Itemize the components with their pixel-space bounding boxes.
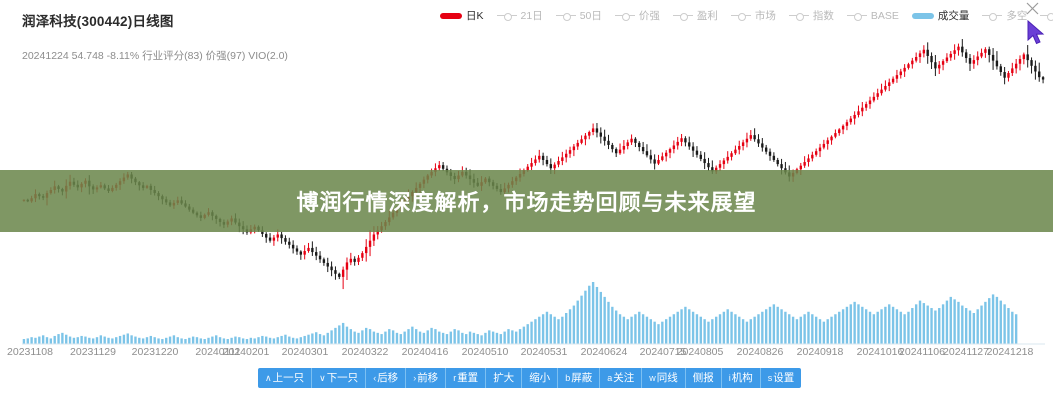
candle-body [673,145,675,149]
volume-bar [853,302,855,344]
candle-body [296,248,298,251]
volume-bar [857,304,859,344]
volume-bar [207,338,209,344]
x-axis-tick-label: 20240201 [223,346,270,358]
toolbar-button-10[interactable]: 侧报 [686,368,722,388]
close-icon[interactable] [1026,2,1039,15]
x-axis-tick-label: 20231220 [132,346,179,358]
volume-bar [492,332,494,344]
volume-bar [807,312,809,344]
toolbar-button-key: ∨ [319,374,326,383]
legend-item-label: 多空 [1006,8,1027,23]
legend-swatch-icon [440,13,462,19]
volume-bar [830,317,832,344]
candle-body [584,136,586,140]
volume-bar [892,307,894,344]
toolbar-button-key: i [729,374,731,383]
candle-body [1038,71,1040,77]
volume-bar [42,335,44,344]
candle-body [992,55,994,61]
candle-body [846,122,848,126]
candle-body [1034,66,1036,72]
candle-body [873,97,875,101]
volume-bar [600,292,602,344]
volume-bar [107,338,109,344]
x-axis-tick-label: 20241127 [943,346,989,358]
legend-item-6[interactable]: 指数 [789,8,834,23]
candle-body [969,58,971,64]
volume-bar [650,319,652,344]
toolbar-button-key: › [413,374,416,383]
bottom-toolbar[interactable]: ∧上一只∨下一只‹后移›前移r重置扩大缩小b屏蔽a关注w同线侧报i机构s设置 [258,368,801,388]
candle-body [861,108,863,112]
volume-bar [1000,301,1002,344]
volume-bar [115,337,117,344]
volume-bar [827,319,829,344]
candle-body [319,256,321,260]
volume-bar [869,312,871,344]
x-axis-tick-label: 20240531 [521,346,568,358]
volume-bar [407,329,409,344]
candle-body [807,158,809,162]
volume-bar [1003,304,1005,344]
x-axis-tick-label: 20241016 [857,346,904,358]
candle-body [1003,72,1005,78]
volume-bar [261,336,263,344]
candle-body [973,60,975,64]
candle-body [619,150,621,154]
volume-bar [946,301,948,344]
toolbar-button-2[interactable]: ‹后移 [366,368,406,388]
candle-body [369,241,371,247]
volume-bar [46,337,48,344]
volume-bar [419,332,421,344]
volume-bar [557,319,559,344]
x-axis-tick-label: 20241106 [899,346,945,358]
candle-body [269,238,271,241]
volume-bar [319,334,321,344]
candle-body [746,139,748,143]
candle-body [303,251,305,255]
volume-bar [227,339,229,344]
candle-body [980,53,982,57]
legend-item-8[interactable]: 成交量 [912,8,970,23]
candle-body [642,147,644,151]
volume-bar [373,332,375,344]
legend-item-1[interactable]: 21日 [497,8,543,23]
candle-body [623,146,625,150]
volume-bar [146,337,148,344]
candle-body [665,153,667,157]
toolbar-button-key: r [453,374,456,383]
volume-bar [415,329,417,344]
volume-bar [434,329,436,344]
candle-body [923,50,925,54]
volume-bar [796,319,798,344]
volume-bar [296,338,298,344]
candle-body [830,137,832,141]
volume-bar [157,338,159,344]
volume-bar [388,329,390,344]
volume-bar [646,317,648,344]
volume-bar [657,324,659,344]
volume-bar [111,338,113,344]
volume-bar [573,306,575,344]
candle-body [553,165,555,169]
volume-bar [357,333,359,344]
candle-body [750,135,752,139]
toolbar-button-key: ∧ [265,374,272,383]
toolbar-button-0[interactable]: ∧上一只 [258,368,312,388]
volume-bar [1011,312,1013,344]
candle-body [884,86,886,90]
candle-body [273,238,275,241]
volume-bar [846,307,848,344]
volume-bar [542,314,544,344]
legend-item-4[interactable]: 盈利 [673,8,718,23]
candle-body [265,234,267,238]
volume-bar [311,333,313,344]
volume-bar [219,337,221,344]
candle-body [334,270,336,274]
volume-bar [873,314,875,344]
volume-bar [523,327,525,344]
x-axis: 2023110820231129202312202024011120240201… [0,346,1053,364]
volume-bar [765,309,767,344]
volume-bar [334,328,336,344]
volume-bar [246,339,248,344]
volume-bar [661,322,663,344]
toolbar-button-12[interactable]: s设置 [761,368,802,388]
x-axis-tick-label: 20231129 [70,346,116,358]
volume-bar [54,336,56,344]
x-axis-tick-label: 20231108 [7,346,53,358]
toolbar-button-3[interactable]: ›前移 [406,368,446,388]
volume-bar [803,314,805,344]
toolbar-button-5[interactable]: 扩大 [486,368,522,388]
candle-body [534,159,536,163]
volume-bar [738,317,740,344]
legend-item-3[interactable]: 价强 [615,8,660,23]
volume-bar [527,324,529,344]
volume-bar [615,311,617,344]
x-axis-tick-label: 20240322 [342,346,389,358]
candle-body [692,147,694,151]
legend-item-0[interactable]: 日K [440,8,484,23]
candle-body [327,263,329,267]
candle-body [727,157,729,161]
volume-bar [550,314,552,344]
candle-body [688,142,690,146]
volume-bar [215,335,217,344]
legend-line-icon [615,15,635,16]
volume-bar [300,337,302,344]
volume-bar [684,307,686,344]
volume-bar [277,337,279,344]
candle-body [280,234,282,238]
volume-bar [134,337,136,344]
candle-body [607,141,609,145]
volume-bar [153,337,155,344]
legend-line-icon [789,15,809,16]
volume-bar [507,329,509,344]
toolbar-button-1[interactable]: ∨下一只 [312,368,366,388]
volume-bar [723,312,725,344]
x-axis-tick-label: 20240510 [462,346,509,358]
candle-body [569,150,571,154]
candle-body [311,248,313,252]
candle-body [977,56,979,60]
candle-body [911,61,913,65]
toolbar-button-label: 机构 [732,373,753,384]
volume-bar [438,332,440,344]
volume-bar [369,329,371,344]
candle-body [603,137,605,141]
legend-line-icon [556,15,576,16]
candle-body [438,165,440,168]
volume-bar [223,338,225,344]
legend-item-7[interactable]: BASE [847,10,899,22]
volume-bar [327,333,329,344]
volume-bar [742,319,744,344]
legend-item-label: 指数 [813,8,834,23]
legend-line-icon [497,15,517,16]
volume-bar [315,332,317,344]
candle-body [815,151,817,155]
volume-bar [780,309,782,344]
candle-body [850,119,852,123]
volume-bar [619,314,621,344]
candle-body [292,245,294,249]
volume-bar [665,319,667,344]
volume-bar [196,337,198,344]
candle-body [811,155,813,159]
volume-bar [496,333,498,344]
candle-body [842,126,844,130]
candle-body [707,163,709,167]
volume-bar [292,338,294,344]
candle-body [542,156,544,160]
candle-body [957,47,959,51]
volume-bar [515,332,517,344]
toolbar-button-9[interactable]: w同线 [642,368,686,388]
volume-bar [96,337,98,344]
x-axis-tick-label: 20241218 [987,346,1034,358]
volume-bar [565,313,567,344]
volume-bar [715,317,717,344]
toolbar-button-11[interactable]: i机构 [722,368,761,388]
volume-bar [138,338,140,344]
volume-bar [50,338,52,344]
volume-bar [750,319,752,344]
legend-item-2[interactable]: 50日 [556,8,602,23]
x-axis-tick-label: 20240918 [797,346,844,358]
volume-bar [469,332,471,344]
volume-bar [230,338,232,344]
volume-bar [403,332,405,344]
volume-bar [988,298,990,344]
candle-body [777,160,779,164]
volume-bar [503,332,505,344]
candle-body [753,135,755,139]
volume-bar [927,306,929,344]
volume-bar [365,328,367,344]
candle-body [742,142,744,146]
toolbar-button-label: 扩大 [493,373,514,384]
candle-body [780,164,782,168]
toolbar-button-label: 关注 [613,373,634,384]
volume-bar [692,312,694,344]
candle-body [611,145,613,149]
volume-bar [677,312,679,344]
volume-bar [688,309,690,344]
candle-body [657,160,659,164]
volume-bar [707,322,709,344]
volume-bar [500,334,502,344]
legend-item-label: 盈利 [697,8,718,23]
volume-bar [919,301,921,344]
volume-bar [400,334,402,344]
overlay-banner-text: 博润行情深度解析，市场走势回顾与未来展望 [296,185,756,217]
x-axis-tick-label: 20240805 [677,346,724,358]
legend-item-9[interactable]: 多空 [982,8,1027,23]
candle-body [350,259,352,263]
candle-body [596,128,598,132]
volume-bar [165,338,167,344]
candle-body [927,50,929,56]
volume-bar [203,339,205,344]
volume-bar [777,307,779,344]
volume-bar [265,337,267,344]
x-axis-tick-label: 20240301 [282,346,329,358]
candle-body [284,238,286,242]
candle-body [669,149,671,153]
candle-body [915,57,917,61]
candle-body [577,143,579,147]
legend-item-10[interactable]: 公告 [1040,8,1053,23]
candle-body [330,267,332,271]
toolbar-button-6[interactable]: 缩小 [522,368,558,388]
volume-bar [27,338,29,344]
toolbar-button-8[interactable]: a关注 [600,368,642,388]
candle-body [823,144,825,148]
stock-chart-app: 润泽科技(300442)日线图 20241224 54.748 -8.11% 行… [0,0,1053,400]
volume-bar [996,297,998,344]
candle-body [650,155,652,159]
volume-bar [957,302,959,344]
candle-body [738,146,740,150]
volume-bar [896,309,898,344]
candle-body [700,155,702,159]
volume-bar [84,337,86,344]
volume-bar [861,307,863,344]
volume-bar [323,335,325,344]
volume-bar [653,322,655,344]
candle-body [800,166,802,170]
candle-body [646,151,648,155]
candle-body [1007,73,1009,78]
toolbar-button-7[interactable]: b屏蔽 [558,368,600,388]
candle-body [546,160,548,164]
volume-bar [57,334,59,344]
volume-bar [103,337,105,344]
volume-bar [592,282,594,344]
volume-bar [88,338,90,344]
volume-bar [92,338,94,344]
volume-bar [77,337,79,344]
toolbar-button-4[interactable]: r重置 [446,368,486,388]
candle-body [919,53,921,57]
candle-body [953,50,955,54]
volume-bar [577,301,579,344]
volume-bar [453,329,455,344]
volume-bar [184,339,186,344]
volume-bar [553,317,555,344]
legend-swatch-icon [912,13,934,19]
volume-bar [427,330,429,344]
legend-item-label: 价强 [639,8,660,23]
volume-bar [480,335,482,344]
candle-body [634,139,636,143]
candle-body [661,156,663,160]
volume-bar [711,319,713,344]
volume-bar [865,309,867,344]
legend-item-5[interactable]: 市场 [731,8,776,23]
volume-bar [519,329,521,344]
candle-body [961,47,963,53]
volume-bar [380,334,382,344]
candle-body [627,142,629,146]
volume-bar [538,317,540,344]
legend-line-icon [1040,15,1053,16]
volume-bar [353,332,355,344]
volume-bar [580,296,582,344]
candle-body [638,143,640,147]
candle-body [307,248,309,251]
volume-bar [511,330,513,344]
volume-bar [603,297,605,344]
candle-body [300,252,302,255]
candle-body [803,162,805,166]
candle-body [888,82,890,86]
candle-body [877,93,879,97]
toolbar-button-label: 同线 [657,373,678,384]
candle-body [1027,54,1029,60]
volume-bar [819,319,821,344]
volume-bar [61,333,63,344]
candle-body [942,61,944,65]
legend-item-label: 50日 [580,8,602,23]
volume-bar [984,302,986,344]
candle-body [373,234,375,240]
legend-line-icon [982,15,1002,16]
candle-body [907,64,909,68]
candle-body [1000,66,1002,72]
volume-bar [634,314,636,344]
volume-bar [488,330,490,344]
candle-body [442,165,444,169]
volume-bar [180,338,182,344]
candle-body [880,90,882,94]
volume-bar [477,334,479,344]
volume-bar [484,333,486,344]
volume-bar [992,294,994,344]
volume-bar [884,307,886,344]
candle-body [592,128,594,132]
volume-bar [923,303,925,344]
volume-bar [973,313,975,344]
volume-bar [980,306,982,344]
